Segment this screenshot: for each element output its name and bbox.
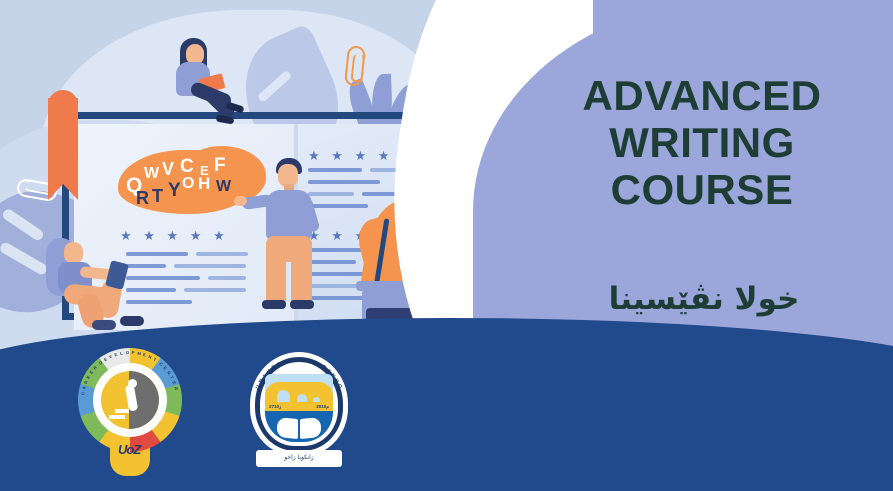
page-text-line (184, 288, 246, 292)
shoe (120, 316, 144, 326)
bubble-letter: R (136, 188, 149, 209)
man-pointing-figure (248, 158, 330, 320)
woman-reading-on-book-figure (160, 38, 252, 120)
uoz-banner: زانكویا زاخو (256, 450, 342, 467)
shoe (262, 300, 286, 309)
page-text-line (196, 252, 248, 256)
poster-canvas: ★ ★ ★ ★ ★ ★ ★ ★ ★ ★ ★ ★ ★ ★ ★ Q W V C E … (0, 0, 893, 491)
course-title: ADVANCED WRITING COURSE (537, 72, 867, 213)
uoz-banner-text: زانكویا زاخو (256, 454, 342, 461)
lightbulb-icon: C A R E E R D E V E L O P M E N T C E N (78, 348, 182, 476)
career-development-center-logo: C A R E E R D E V E L O P M E N T C E N (70, 348, 190, 478)
bubble-letter: F (214, 155, 226, 177)
bubble-letter: W (144, 165, 159, 183)
tablet-icon (105, 260, 129, 290)
torso (266, 190, 312, 240)
shoe (290, 300, 314, 309)
uoz-arc-text: U N I V E R S I T Y O F Z A K H O (250, 352, 348, 456)
cdc-arc-text: C A R E E R D E V E L O P M E N T C E N (78, 348, 182, 452)
shoe (92, 320, 116, 330)
woman-with-tablet-figure (46, 232, 152, 328)
bubble-letter: V (162, 159, 174, 180)
bubble-letter: T (152, 186, 163, 207)
bubble-letter: W (216, 178, 231, 196)
title-line-1: ADVANCED (537, 72, 867, 119)
university-of-zakho-logo: ز2710 م2010 U N I V E R S I T Y O F Z A … (244, 352, 354, 476)
title-line-3: COURSE (537, 166, 867, 213)
bubble-letter: Y (168, 180, 181, 202)
head (64, 242, 83, 264)
subtitle-line-1: خولا نڤێسینا (539, 276, 869, 322)
page-text-line (174, 264, 246, 268)
bubble-letter: O (182, 175, 194, 193)
title-line-2: WRITING (537, 119, 867, 166)
hand (234, 196, 247, 206)
page-text-line (208, 276, 246, 280)
leg-gap (286, 262, 291, 302)
bubble-letter: H (198, 174, 210, 194)
cdc-uoz-mark: UoZ (118, 442, 140, 457)
bookmark-ribbon (48, 98, 78, 184)
